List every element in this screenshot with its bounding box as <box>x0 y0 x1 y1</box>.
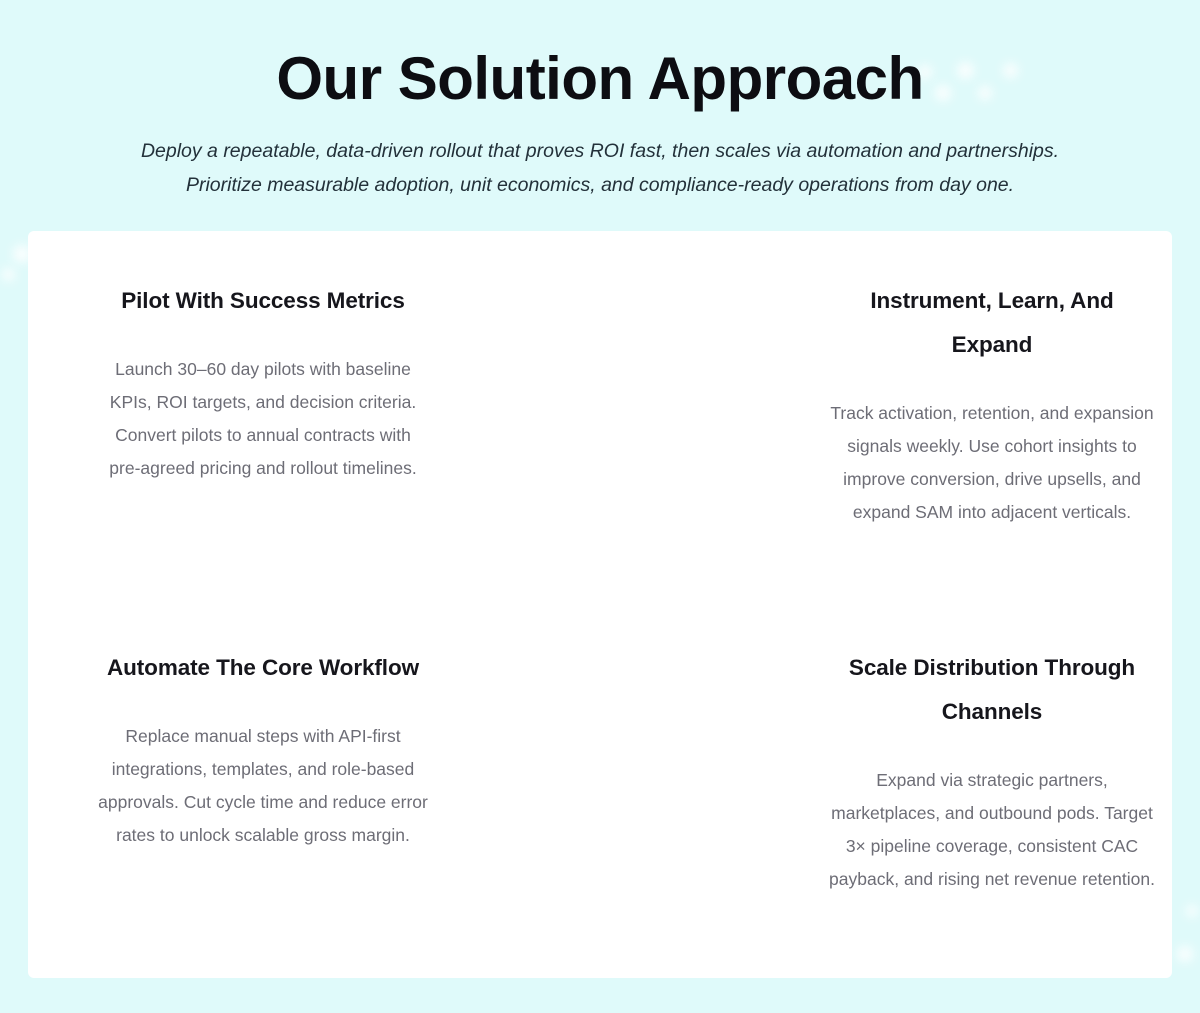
step-body-4: Track activation, retention, and expansi… <box>827 397 1157 529</box>
step-title-3: Scale Distribution Through Channels <box>827 646 1157 734</box>
step-title-4: Instrument, Learn, And Expand <box>827 279 1157 367</box>
page-subtitle-line-1: Deploy a repeatable, data-driven rollout… <box>95 134 1105 168</box>
step-body-2: Replace manual steps with API-first inte… <box>98 720 428 852</box>
decorative-dot-icon <box>1177 946 1193 962</box>
step-block-4: Instrument, Learn, And Expand Track acti… <box>827 279 1157 529</box>
step-block-2: Automate The Core Workflow Replace manua… <box>98 646 428 852</box>
step-body-3: Expand via strategic partners, marketpla… <box>827 764 1157 896</box>
step-title-1: Pilot With Success Metrics <box>98 279 428 323</box>
decorative-dot-icon <box>1186 905 1198 917</box>
step-block-3: Scale Distribution Through Channels Expa… <box>827 646 1157 896</box>
page-subtitle: Deploy a repeatable, data-driven rollout… <box>95 134 1105 202</box>
page-header: Our Solution Approach Deploy a repeatabl… <box>0 0 1200 202</box>
content-card: Pilot With Success Metrics Launch 30–60 … <box>28 231 1172 978</box>
page-title: Our Solution Approach <box>0 0 1200 112</box>
page-subtitle-line-2: Prioritize measurable adoption, unit eco… <box>95 168 1105 202</box>
step-block-1: Pilot With Success Metrics Launch 30–60 … <box>98 279 428 485</box>
decorative-dot-icon <box>2 268 15 281</box>
step-body-1: Launch 30–60 day pilots with baseline KP… <box>98 353 428 485</box>
step-title-2: Automate The Core Workflow <box>98 646 428 690</box>
